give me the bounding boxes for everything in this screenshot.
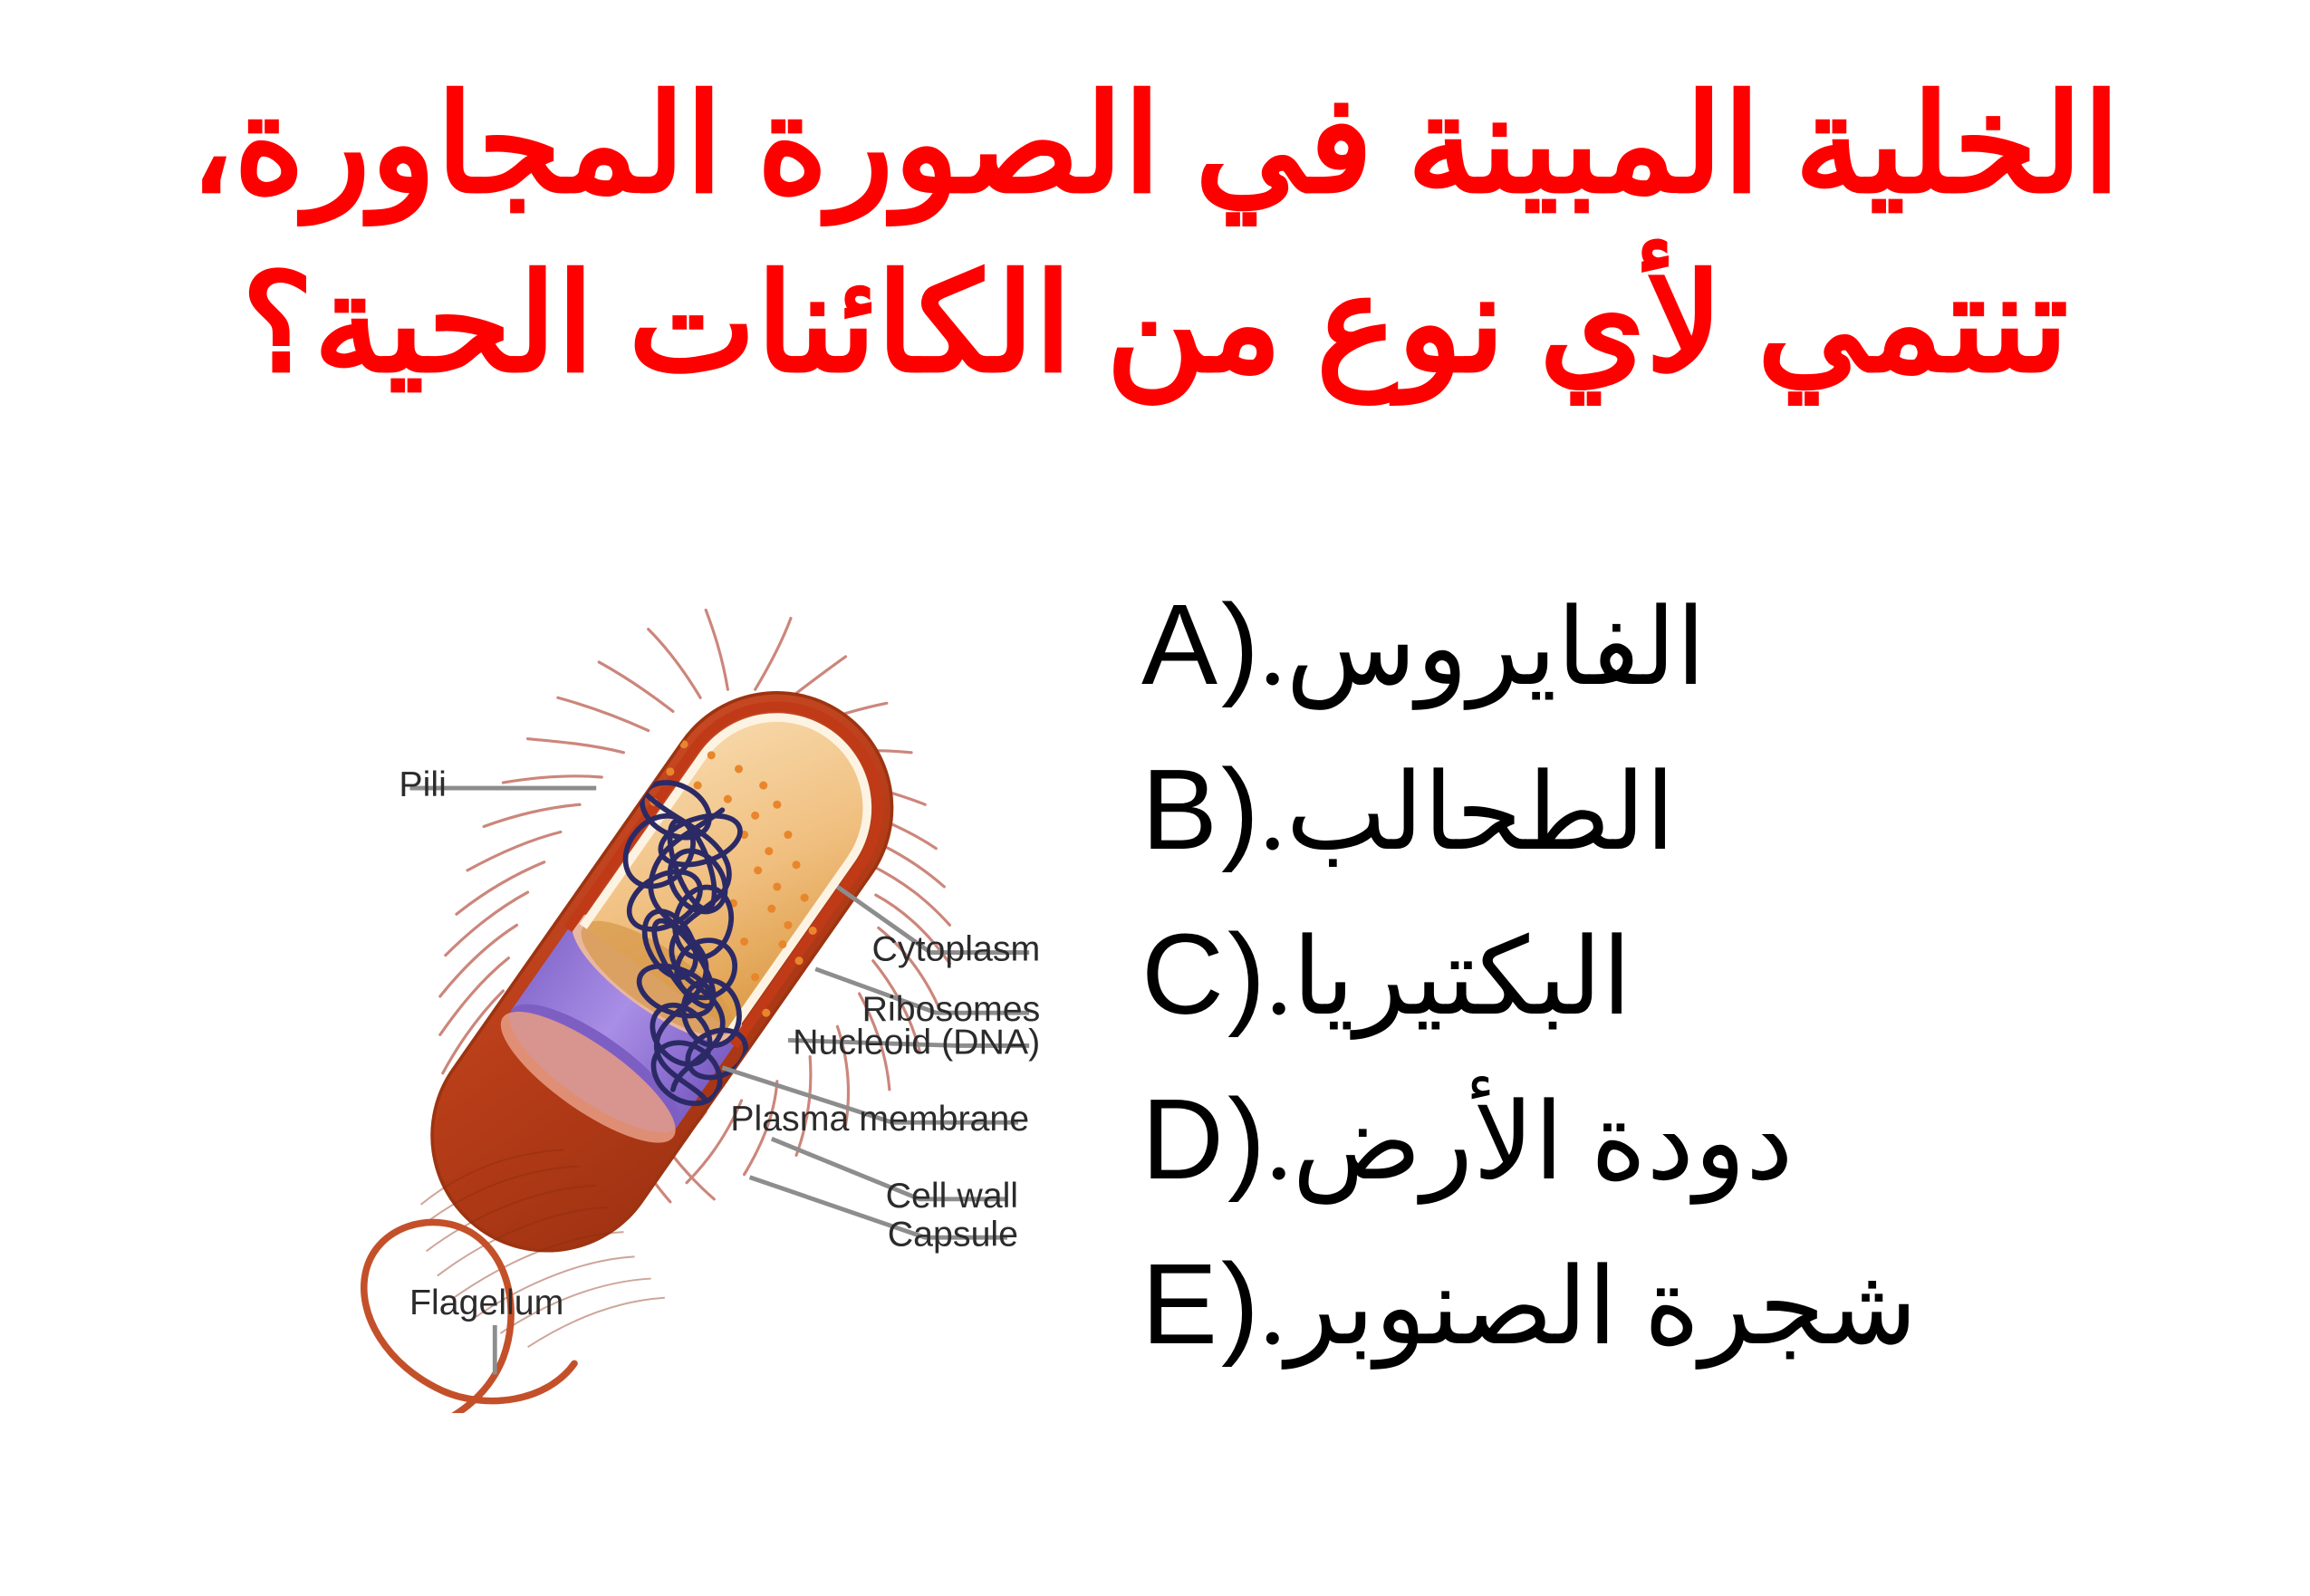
label-capsule: Capsule — [888, 1214, 1018, 1254]
answer-paren-c: ) — [1227, 917, 1266, 1034]
answer-text-a: الفايروس. — [1259, 594, 1706, 703]
answer-option-b[interactable]: الطحالب. ) B — [1141, 752, 2256, 917]
answer-option-d[interactable]: دودة الأرض. ) D — [1141, 1082, 2256, 1246]
label-pili: Pili — [399, 764, 446, 804]
label-flagellum: Flagellum — [409, 1283, 563, 1322]
question-block: الخلية المبينة في الصورة المجاورة، تنتمي… — [0, 56, 2310, 415]
label-cytoplasm: Cytoplasm — [872, 929, 1041, 969]
bacterium-diagram-image: Pili Cytoplasm Ribosomes Nucleoid (DNA) … — [136, 580, 1232, 1413]
answer-options-list: الفايروس. ) A الطحالب. ) B البكتيريا. ) … — [1141, 587, 2256, 1411]
answer-text-b: الطحالب. — [1259, 759, 1675, 868]
answer-option-a[interactable]: الفايروس. ) A — [1141, 587, 2256, 752]
answer-text-e: شجرة الصنوبر. — [1259, 1254, 1918, 1362]
bacterium-svg: Pili Cytoplasm Ribosomes Nucleoid (DNA) … — [136, 580, 1232, 1413]
question-line-1: الخلية المبينة في الصورة المجاورة، — [0, 56, 2310, 236]
answer-option-e[interactable]: شجرة الصنوبر. ) E — [1141, 1246, 2256, 1411]
answer-text-c: البكتيريا. — [1266, 924, 1631, 1033]
label-nucleoid: Nucleoid (DNA) — [793, 1023, 1040, 1062]
label-plasma-membrane: Plasma membrane — [730, 1099, 1029, 1139]
label-cell-wall: Cell wall — [886, 1176, 1018, 1216]
answer-text-d: دودة الأرض. — [1266, 1089, 1794, 1197]
question-line-2: تنتمي لأي نوع من الكائنات الحية؟ — [0, 236, 2310, 415]
answer-paren-d: ) — [1227, 1082, 1266, 1198]
answer-option-c[interactable]: البكتيريا. ) C — [1141, 917, 2256, 1082]
